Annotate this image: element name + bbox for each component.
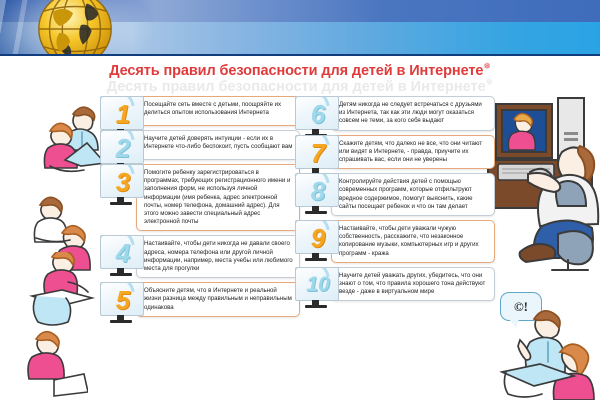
rule-text: Научите детей доверять интуиции - если и… xyxy=(136,130,300,160)
rule-number: 6 xyxy=(296,97,339,130)
left-bottom2-illustration xyxy=(2,330,88,400)
rule-number: 3 xyxy=(101,165,144,198)
rule-item: 7 Скажите детям, что далеко не все, что … xyxy=(295,135,495,170)
rule-number: 5 xyxy=(101,283,144,316)
rule-text: Настаивайте, чтобы дети уважали чужую со… xyxy=(331,220,495,263)
right-bottom-illustration xyxy=(498,306,600,400)
rule-item: 10 Научите детей уважать других, убедите… xyxy=(295,267,495,302)
monitor-icon: 6 xyxy=(295,96,341,140)
rule-number: 7 xyxy=(296,136,339,169)
left-bottom-illustration xyxy=(6,252,98,330)
monitor-icon: 7 xyxy=(295,135,341,179)
rule-number: 1 xyxy=(101,97,144,130)
rules-column-right: 6 Детям никогда не следует встречаться с… xyxy=(295,96,495,305)
monitor-icon: 9 xyxy=(295,220,341,264)
banner-divider xyxy=(0,54,600,56)
monitor-icon: 3 xyxy=(100,164,146,208)
rule-item: 6 Детям никогда не следует встречаться с… xyxy=(295,96,495,131)
rule-text: Настаивайте, чтобы дети никогда не давал… xyxy=(136,235,300,278)
rules-column-left: 1 Посещайте сеть вместе с детьми, поощря… xyxy=(100,96,300,321)
rule-item: 8 Контролируйте действия детей с помощью… xyxy=(295,173,495,216)
snowflake-icon: ❅ xyxy=(483,61,490,71)
rule-item: 2 Научите детей доверять интуиции - если… xyxy=(100,130,300,160)
rule-number: 9 xyxy=(296,221,339,254)
rule-item: 5 Объясните детям, что в Интернете и реа… xyxy=(100,282,300,317)
globe-wireframe-icon xyxy=(26,0,124,56)
left-top-illustration xyxy=(30,98,108,178)
monitor-icon: 10 xyxy=(295,267,341,311)
rule-number: 2 xyxy=(101,131,144,164)
rule-text: Научите детей уважать других, убедитесь,… xyxy=(331,267,495,302)
rule-text: Скажите детям, что далеко не все, что он… xyxy=(331,135,495,170)
rule-text: Посещайте сеть вместе с детьми, поощряйт… xyxy=(136,96,300,126)
rule-item: 4 Настаивайте, чтобы дети никогда не дав… xyxy=(100,235,300,278)
rule-text: Объясните детям, что в Интернете и реаль… xyxy=(136,282,300,317)
rule-number: 10 xyxy=(296,268,339,301)
rule-item: 3 Помогите ребенку зарегистрироваться в … xyxy=(100,164,300,231)
rule-text: Детям никогда не следует встречаться с д… xyxy=(331,96,495,131)
rule-text: Контролируйте действия детей с помощью с… xyxy=(331,173,495,216)
monitor-icon: 4 xyxy=(100,235,146,279)
rule-number: 8 xyxy=(296,174,339,207)
monitor-icon: 8 xyxy=(295,173,341,217)
top-banner xyxy=(0,0,600,56)
rule-text: Помогите ребенку зарегистрироваться в пр… xyxy=(136,164,300,231)
rule-item: 9 Настаивайте, чтобы дети уважали чужую … xyxy=(295,220,495,263)
rule-item: 1 Посещайте сеть вместе с детьми, поощря… xyxy=(100,96,300,126)
right-top-illustration xyxy=(484,88,600,274)
rule-number: 4 xyxy=(101,236,144,269)
monitor-icon: 5 xyxy=(100,282,146,326)
